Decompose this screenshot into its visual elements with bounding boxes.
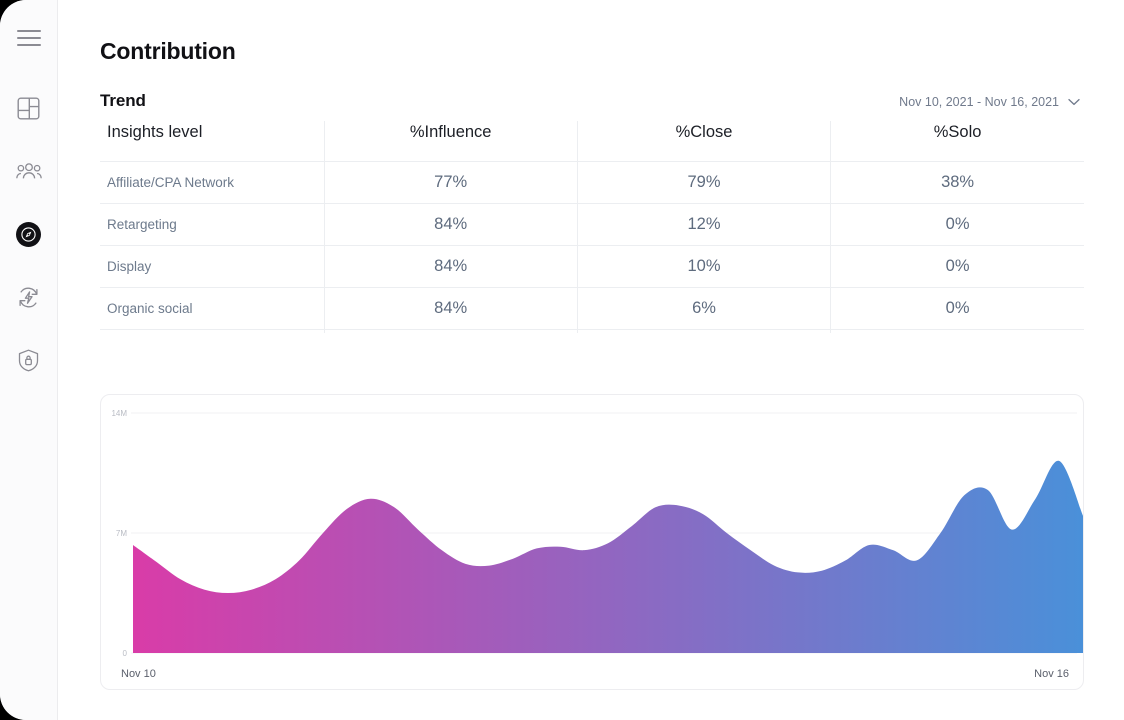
menu-icon[interactable]	[9, 18, 49, 58]
cell-solo: 0%	[831, 204, 1084, 246]
chevron-down-icon	[1068, 98, 1080, 106]
chart-area-series	[133, 461, 1083, 653]
compass-icon[interactable]	[9, 214, 49, 254]
y-axis-tick-label: 0	[123, 649, 128, 658]
date-range-label: Nov 10, 2021 - Nov 16, 2021	[899, 95, 1059, 109]
cell-influence: 71%	[324, 330, 577, 334]
app-window: Contribution Trend Nov 10, 2021 - Nov 16…	[0, 0, 1124, 720]
cell-solo: 0%	[831, 246, 1084, 288]
trend-area-chart[interactable]: 07M14M Nov 10Nov 16	[101, 395, 1083, 689]
table-row[interactable]: Retargeting84%12%0%	[100, 204, 1084, 246]
insights-table: Insights level %Influence %Close %Solo A…	[100, 121, 1084, 333]
cell-influence: 84%	[324, 246, 577, 288]
cell-solo: 0%	[831, 288, 1084, 330]
chart-y-axis-labels: 07M14M	[111, 409, 127, 658]
cell-influence: 84%	[324, 288, 577, 330]
table-row[interactable]: Display84%10%0%	[100, 246, 1084, 288]
table-row[interactable]: Organic social84%6%0%	[100, 288, 1084, 330]
compass-active-badge	[16, 222, 41, 247]
cell-influence: 84%	[324, 204, 577, 246]
cell-influence: 77%	[324, 162, 577, 204]
page-title: Contribution	[100, 38, 1084, 65]
table-header-row: Insights level %Influence %Close %Solo	[100, 121, 1084, 162]
column-header-insights-level[interactable]: Insights level	[100, 121, 324, 162]
date-range-picker[interactable]: Nov 10, 2021 - Nov 16, 2021	[899, 95, 1084, 109]
y-axis-tick-label: 7M	[116, 529, 127, 538]
cell-close: 12%	[577, 204, 830, 246]
cell-insights-level: Affiliate/CPA Network	[100, 162, 324, 204]
performance-icon[interactable]	[9, 277, 49, 317]
x-axis-tick-label: Nov 10	[121, 668, 156, 680]
chart-x-axis-labels: Nov 10Nov 16	[121, 668, 1069, 680]
cell-close: 79%	[577, 162, 830, 204]
cell-insights-level: Retargeting	[100, 204, 324, 246]
table-row[interactable]: Paid search71%14%0%	[100, 330, 1084, 334]
cell-close: 6%	[577, 288, 830, 330]
table-row[interactable]: Affiliate/CPA Network77%79%38%	[100, 162, 1084, 204]
cell-solo: 0%	[831, 330, 1084, 334]
column-header-close[interactable]: %Close	[577, 121, 830, 162]
cell-close: 14%	[577, 330, 830, 334]
x-axis-tick-label: Nov 16	[1034, 668, 1069, 680]
cell-insights-level: Organic social	[100, 288, 324, 330]
cell-insights-level: Display	[100, 246, 324, 288]
column-header-influence[interactable]: %Influence	[324, 121, 577, 162]
audience-icon[interactable]	[9, 151, 49, 191]
insights-table-container: Insights level %Influence %Close %Solo A…	[100, 121, 1084, 333]
cell-close: 10%	[577, 246, 830, 288]
table-header: Insights level %Influence %Close %Solo	[100, 121, 1084, 162]
section-title: Trend	[100, 91, 146, 111]
main-content: Contribution Trend Nov 10, 2021 - Nov 16…	[58, 0, 1124, 720]
y-axis-tick-label: 14M	[111, 409, 127, 418]
section-header: Trend Nov 10, 2021 - Nov 16, 2021	[100, 91, 1084, 111]
trend-chart-card: 07M14M Nov 10Nov 16	[100, 394, 1084, 690]
shield-lock-icon[interactable]	[9, 340, 49, 380]
cell-solo: 38%	[831, 162, 1084, 204]
column-header-solo[interactable]: %Solo	[831, 121, 1084, 162]
sidebar	[0, 0, 58, 720]
table-body: Affiliate/CPA Network77%79%38%Retargetin…	[100, 162, 1084, 334]
cell-insights-level: Paid search	[100, 330, 324, 334]
dashboard-icon[interactable]	[9, 88, 49, 128]
